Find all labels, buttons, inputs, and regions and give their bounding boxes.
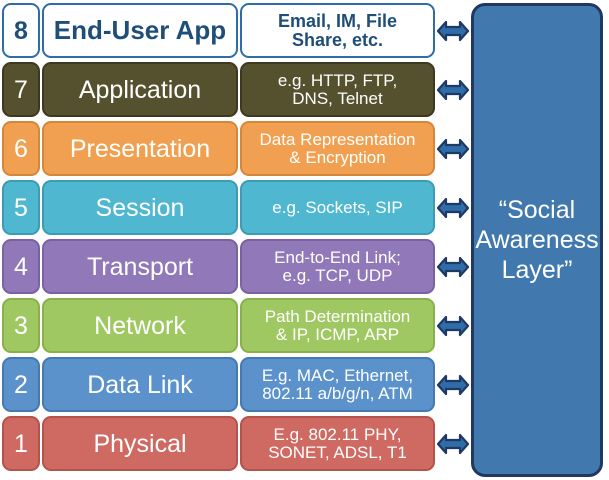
- layer-name-8: End-User App: [42, 3, 238, 58]
- layer-name-3: Network: [42, 298, 238, 353]
- layer-description-3: Path Determination & IP, ICMP, ARP: [240, 298, 435, 353]
- layer-number-6: 6: [2, 121, 40, 176]
- left-right-arrow-icon: [437, 195, 469, 221]
- layer-row-5[interactable]: 5Sessione.g. Sockets, SIP: [2, 180, 435, 235]
- layer-description-1: E.g. 802.11 PHY, SONET, ADSL, T1: [240, 416, 435, 471]
- layer-number-4: 4: [2, 239, 40, 294]
- layer-row-7[interactable]: 7Applicatione.g. HTTP, FTP, DNS, Telnet: [2, 62, 435, 117]
- layer-row-3[interactable]: 3NetworkPath Determination & IP, ICMP, A…: [2, 298, 435, 353]
- layer-number-2: 2: [2, 357, 40, 412]
- layer-description-7: e.g. HTTP, FTP, DNS, Telnet: [240, 62, 435, 117]
- social-awareness-layer-panel[interactable]: “Social Awareness Layer”: [471, 3, 603, 477]
- social-awareness-layer-label: “Social Awareness Layer”: [475, 195, 598, 285]
- layer-row-2[interactable]: 2Data LinkE.g. MAC, Ethernet, 802.11 a/b…: [2, 357, 435, 412]
- left-right-arrow-icon: [437, 136, 469, 162]
- layer-number-8: 8: [2, 3, 40, 58]
- layer-name-5: Session: [42, 180, 238, 235]
- layer-number-1: 1: [2, 416, 40, 471]
- layer-number-3: 3: [2, 298, 40, 353]
- layer-number-7: 7: [2, 62, 40, 117]
- layer-description-5: e.g. Sockets, SIP: [240, 180, 435, 235]
- left-right-arrow-icon: [437, 77, 469, 103]
- layer-name-2: Data Link: [42, 357, 238, 412]
- layer-description-2: E.g. MAC, Ethernet, 802.11 a/b/g/n, ATM: [240, 357, 435, 412]
- layer-name-7: Application: [42, 62, 238, 117]
- layer-row-4[interactable]: 4TransportEnd-to-End Link; e.g. TCP, UDP: [2, 239, 435, 294]
- layer-row-8[interactable]: 8End-User AppEmail, IM, File Share, etc.: [2, 3, 435, 58]
- left-right-arrow-icon: [437, 431, 469, 457]
- layer-description-4: End-to-End Link; e.g. TCP, UDP: [240, 239, 435, 294]
- left-right-arrow-icon: [437, 254, 469, 280]
- layer-row-1[interactable]: 1PhysicalE.g. 802.11 PHY, SONET, ADSL, T…: [2, 416, 435, 471]
- layer-number-5: 5: [2, 180, 40, 235]
- layer-name-4: Transport: [42, 239, 238, 294]
- layer-stack: 8End-User AppEmail, IM, File Share, etc.…: [0, 0, 437, 480]
- layer-description-6: Data Representation & Encryption: [240, 121, 435, 176]
- layer-row-6[interactable]: 6PresentationData Representation & Encry…: [2, 121, 435, 176]
- osi-social-awareness-diagram: 8End-User AppEmail, IM, File Share, etc.…: [0, 0, 609, 480]
- layer-name-1: Physical: [42, 416, 238, 471]
- layer-name-6: Presentation: [42, 121, 238, 176]
- layer-description-8: Email, IM, File Share, etc.: [240, 3, 435, 58]
- left-right-arrow-icon: [437, 313, 469, 339]
- left-right-arrow-icon: [437, 372, 469, 398]
- left-right-arrow-icon: [437, 18, 469, 44]
